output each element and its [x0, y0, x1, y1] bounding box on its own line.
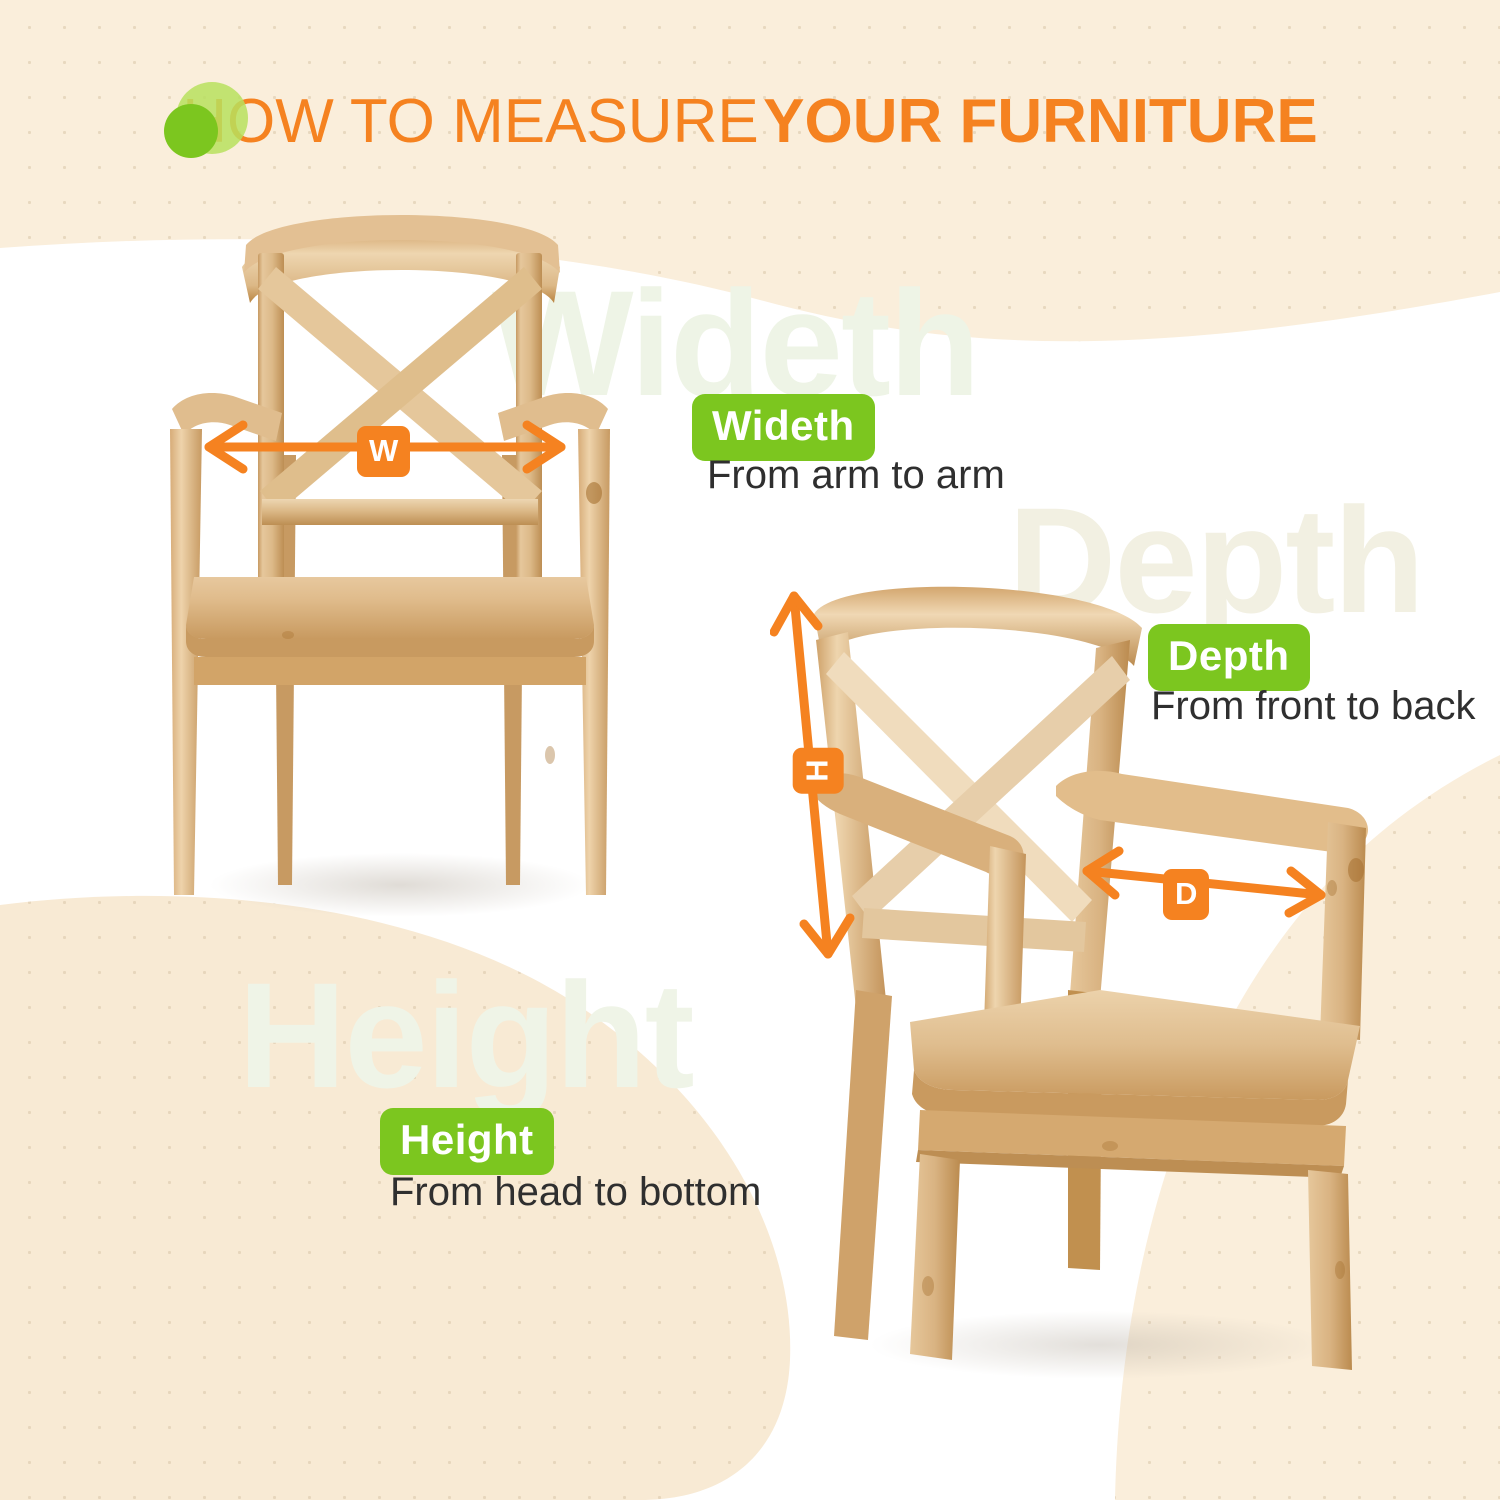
- wood-knot: [545, 746, 555, 764]
- chair-front-apron: [194, 657, 586, 685]
- height-letter-chip: H: [793, 747, 844, 793]
- chair-side-seat: [910, 990, 1360, 1100]
- chair-side-front-leg-right: [1308, 1170, 1352, 1370]
- wood-knot: [282, 631, 294, 639]
- page-title-light: HOW TO MEASURE: [182, 87, 758, 156]
- width-caption: From arm to arm: [707, 455, 1005, 495]
- width-letter-chip: W: [357, 426, 410, 477]
- infographic-canvas: Wideth Depth Height HOW TO MEASURE YOUR …: [0, 0, 1500, 1500]
- depth-letter-chip: D: [1163, 869, 1209, 920]
- chair-front-seat: [186, 577, 594, 639]
- wood-knot: [922, 1276, 934, 1296]
- watermark-height: Height: [238, 960, 693, 1110]
- wood-knot: [1348, 858, 1364, 882]
- page-title-bold: YOUR FURNITURE: [763, 87, 1318, 156]
- green-circle-small-icon: [164, 104, 218, 158]
- width-badge: Wideth: [692, 394, 875, 461]
- wood-knot: [586, 482, 602, 504]
- chair-front-shadow: [210, 853, 590, 917]
- height-caption: From head to bottom: [390, 1172, 761, 1212]
- chair-side-front-leg-left: [910, 1154, 960, 1360]
- chair-front-view-illustration: [150, 195, 630, 935]
- page-title: HOW TO MEASURE YOUR FURNITURE: [0, 86, 1500, 157]
- chair-side-lower-back-rail: [862, 908, 1086, 952]
- wood-knot: [1335, 1261, 1345, 1279]
- wood-knot: [1102, 1141, 1118, 1151]
- depth-badge: Depth: [1148, 624, 1310, 691]
- depth-caption: From front to back: [1151, 686, 1476, 726]
- height-badge: Height: [380, 1108, 554, 1175]
- chair-side-rear-leg-left: [834, 990, 892, 1340]
- chair-front-lower-back-rail: [262, 499, 538, 525]
